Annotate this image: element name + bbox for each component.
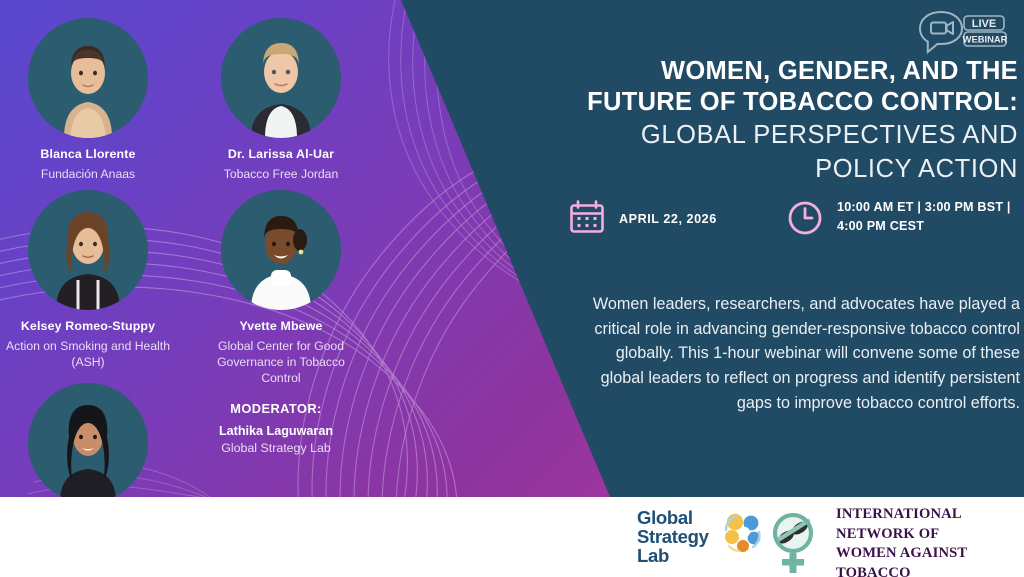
speaker-card-1: Blanca Llorente Fundación Anaas bbox=[3, 18, 173, 182]
gsl-line-3: Lab bbox=[637, 546, 709, 565]
page-title: WOMEN, GENDER, AND THE FUTURE OF TOBACCO… bbox=[556, 56, 1018, 185]
right-content-column: WOMEN, GENDER, AND THE FUTURE OF TOBACCO… bbox=[556, 0, 1024, 497]
event-date: APRIL 22, 2026 bbox=[568, 198, 786, 241]
inwat-line-1: INTERNATIONAL NETWORK OF bbox=[836, 505, 1024, 544]
globe-icon bbox=[713, 508, 765, 565]
gsl-line-2: Strategy bbox=[637, 527, 709, 546]
avatar bbox=[221, 190, 341, 310]
speaker-name: Yvette Mbewe bbox=[196, 319, 366, 335]
avatar bbox=[28, 190, 148, 310]
title-line-3: GLOBAL PERSPECTIVES AND bbox=[556, 120, 1018, 152]
avatar bbox=[221, 18, 341, 138]
title-line-1: WOMEN, GENDER, AND THE bbox=[556, 56, 1018, 87]
title-line-2: FUTURE OF TOBACCO CONTROL: bbox=[556, 87, 1018, 118]
event-time: 10:00 AM ET | 3:00 PM BST | 4:00 PM CEST bbox=[786, 198, 1024, 242]
speaker-name: Dr. Larissa Al-Uar bbox=[196, 147, 366, 163]
moderator-name: Lathika Laguwaran bbox=[176, 424, 376, 438]
speaker-name: Kelsey Romeo-Stuppy bbox=[3, 319, 173, 335]
title-line-4: POLICY ACTION bbox=[556, 154, 1018, 186]
gsl-logo-wordmark: Global Strategy Lab bbox=[637, 508, 709, 566]
moderator-label: MODERATOR: bbox=[176, 401, 376, 416]
avatar bbox=[28, 18, 148, 138]
event-time-text: 10:00 AM ET | 3:00 PM BST | 4:00 PM CEST bbox=[837, 198, 1024, 236]
moderator-block: MODERATOR: Lathika Laguwaran Global Stra… bbox=[176, 401, 376, 455]
speaker-card-2: Dr. Larissa Al-Uar Tobacco Free Jordan bbox=[196, 18, 366, 182]
inwat-logo: INTERNATIONAL NETWORK OF WOMEN AGAINST T… bbox=[762, 505, 1024, 577]
speaker-org: Fundación Anaas bbox=[3, 166, 173, 182]
avatar bbox=[28, 383, 148, 503]
calendar-icon bbox=[568, 198, 606, 241]
global-strategy-lab-logo: Global Strategy Lab bbox=[637, 508, 765, 566]
event-meta-row: APRIL 22, 2026 10:00 AM ET | 3:00 PM BST… bbox=[568, 198, 1024, 242]
speaker-org: Global Center for Good Governance in Tob… bbox=[196, 338, 366, 386]
no-smoking-venus-symbol-icon bbox=[762, 509, 824, 577]
webinar-poster: LIVE WEBINAR WOMEN, GENDER, AND THE FUTU… bbox=[0, 0, 1024, 577]
clock-icon bbox=[786, 199, 824, 242]
speaker-org: Tobacco Free Jordan bbox=[196, 166, 366, 182]
description-paragraph: Women leaders, researchers, and advocate… bbox=[588, 292, 1020, 415]
inwat-wordmark: INTERNATIONAL NETWORK OF WOMEN AGAINST T… bbox=[836, 505, 1024, 577]
speaker-card-3: Kelsey Romeo-Stuppy Action on Smoking an… bbox=[3, 190, 173, 370]
event-date-text: APRIL 22, 2026 bbox=[619, 210, 717, 229]
inwat-line-2: WOMEN AGAINST TOBACCO bbox=[836, 544, 1024, 577]
speaker-card-4: Yvette Mbewe Global Center for Good Gove… bbox=[196, 190, 366, 386]
moderator-org: Global Strategy Lab bbox=[176, 441, 376, 455]
speaker-card-5 bbox=[3, 383, 173, 512]
gsl-line-1: Global bbox=[637, 508, 709, 527]
speaker-name: Blanca Llorente bbox=[3, 147, 173, 163]
speaker-org: Action on Smoking and Health (ASH) bbox=[3, 338, 173, 370]
